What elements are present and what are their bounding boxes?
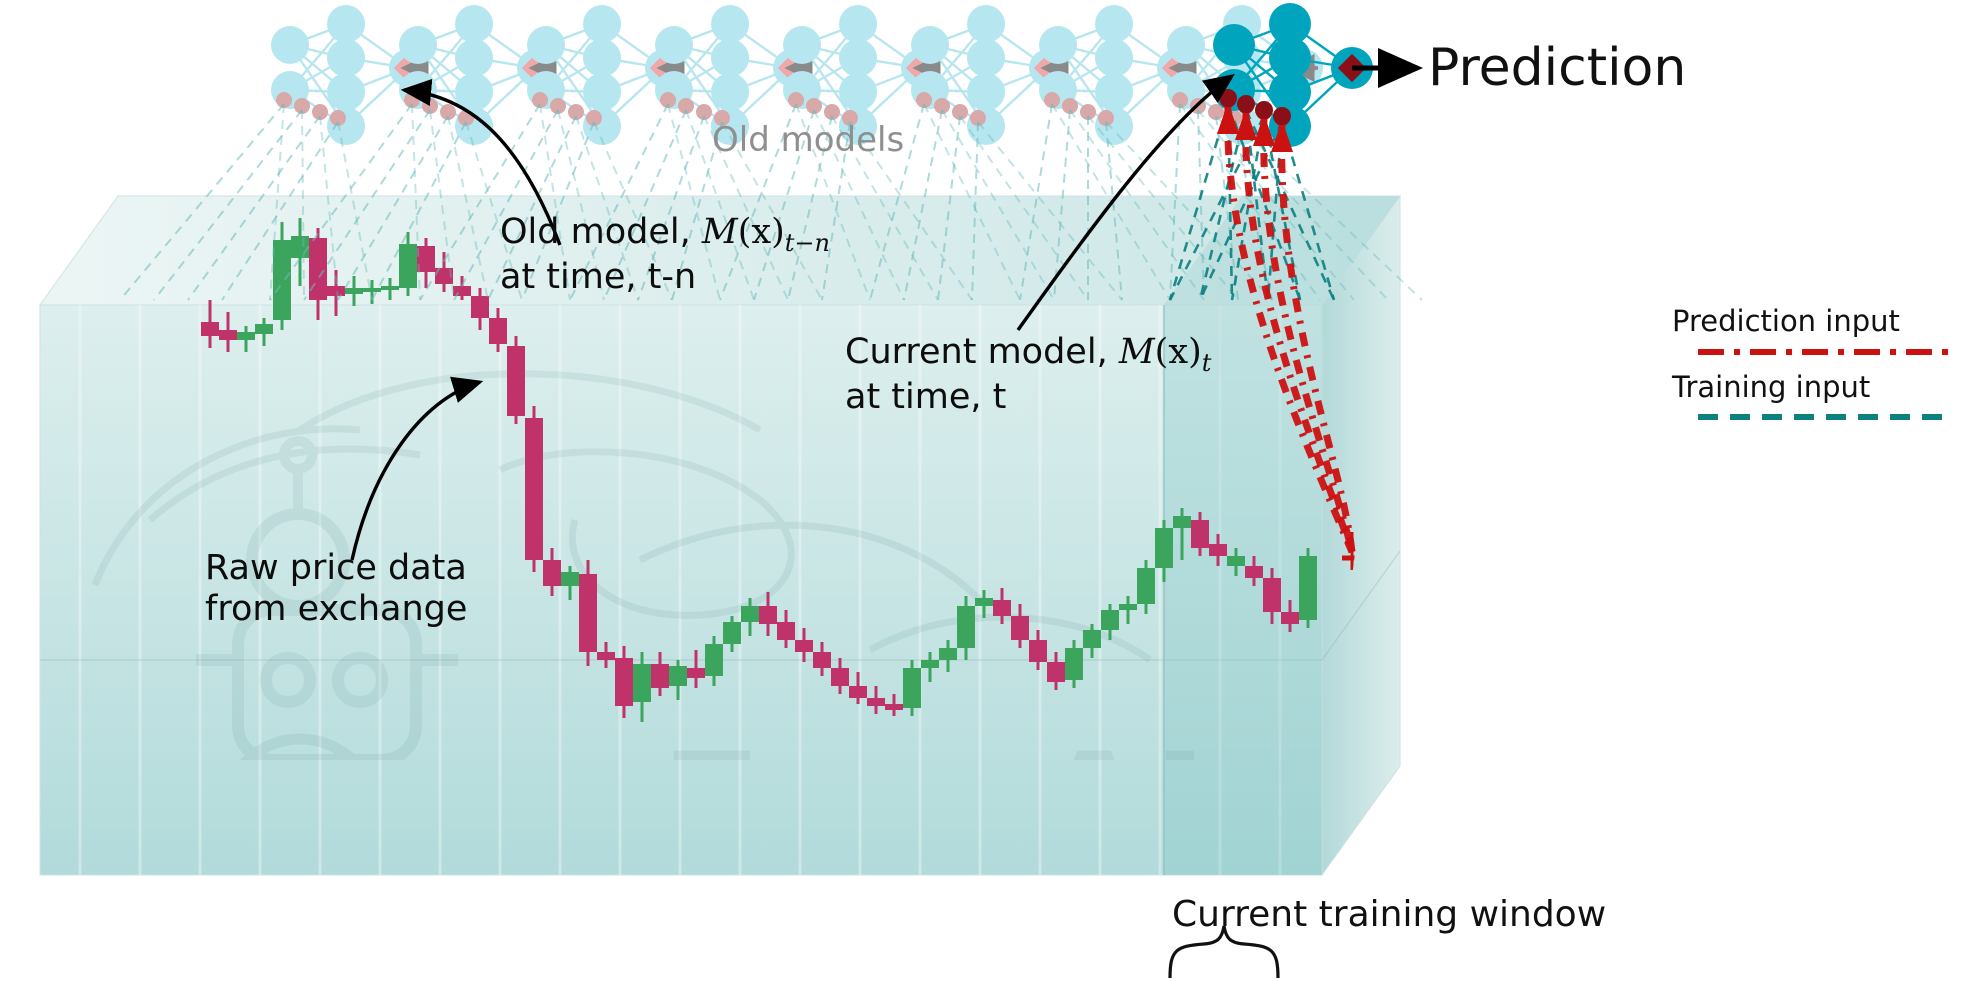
annotation-old-model-math-arg: (x) — [738, 212, 785, 252]
annotation-current-model-math-sub: t — [1202, 349, 1212, 377]
prediction-label: Prediction — [1428, 38, 1686, 98]
figure-canvas: ₿ FreqAI Old models Prediction Old model… — [0, 0, 1966, 981]
annotation-current-model-math-arg: (x) — [1155, 332, 1202, 372]
annotation-raw-price-line1: Raw price data — [205, 548, 467, 589]
annotation-current-model-prefix: Current model, — [845, 332, 1119, 372]
annotation-old-model-prefix: Old model, — [500, 212, 702, 252]
annotation-raw-price-data: Raw price data from exchange — [205, 548, 467, 631]
annotation-current-model: Current model, M(x)t at time, t — [845, 332, 1211, 419]
legend-item-prediction-input: Prediction input — [1672, 304, 1900, 338]
current-training-window-label: Current training window — [1172, 894, 1606, 935]
annotation-old-model-line2: at time, t-n — [500, 257, 830, 298]
old-models-label: Old models — [712, 120, 904, 160]
diagram-svg: ₿ FreqAI — [0, 0, 1966, 981]
annotation-current-model-math-base: M — [1119, 332, 1155, 372]
legend-item-training-input: Training input — [1672, 370, 1870, 404]
annotation-old-model-math-base: M — [702, 212, 738, 252]
annotation-old-model-math-sub: t−n — [785, 229, 830, 257]
annotation-old-model: Old model, M(x)t−n at time, t-n — [500, 212, 830, 299]
annotation-raw-price-line2: from exchange — [205, 589, 467, 630]
annotation-current-model-line2: at time, t — [845, 377, 1211, 418]
